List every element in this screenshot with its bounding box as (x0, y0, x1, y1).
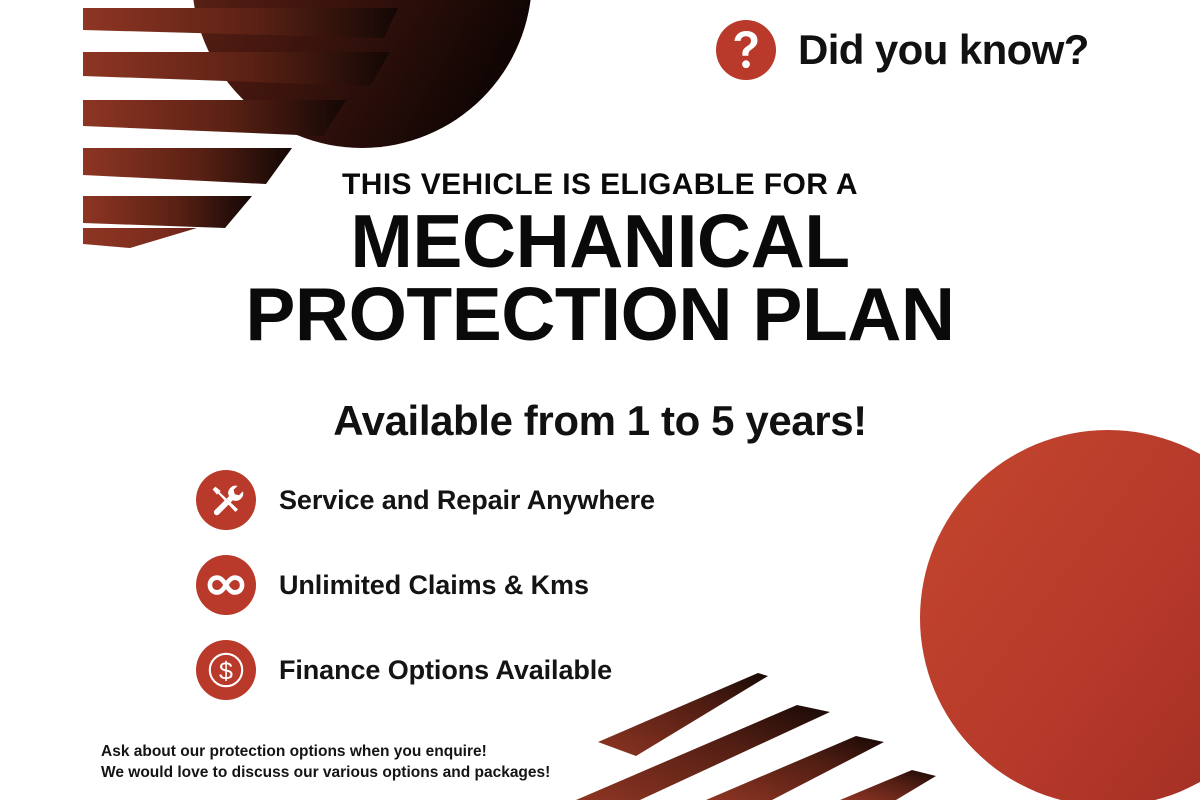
headline-subtitle: Available from 1 to 5 years! (0, 352, 1200, 442)
feature-label: Unlimited Claims & Kms (279, 570, 589, 601)
headline-title-line-2: PROTECTION PLAN (0, 278, 1200, 352)
dollar-coin-icon: $ (196, 640, 256, 700)
feature-label: Service and Repair Anywhere (279, 485, 655, 516)
did-you-know-header: Did you know? (716, 20, 1089, 80)
feature-label: Finance Options Available (279, 655, 612, 686)
headline-block: THIS VEHICLE IS ELIGABLE FOR A MECHANICA… (0, 168, 1200, 442)
tools-wrench-screwdriver-icon (196, 470, 256, 530)
footer-line-1: Ask about our protection options when yo… (101, 742, 550, 763)
svg-text:$: $ (219, 658, 233, 686)
infinity-icon (196, 555, 256, 615)
did-you-know-label: Did you know? (798, 29, 1089, 71)
red-gradient-circle (920, 430, 1200, 800)
feature-item-finance-options: $ Finance Options Available (196, 640, 655, 700)
feature-list: Service and Repair Anywhere Unlimited Cl… (196, 470, 655, 700)
footer-note: Ask about our protection options when yo… (101, 742, 550, 783)
feature-item-unlimited-claims: Unlimited Claims & Kms (196, 555, 655, 615)
headline-title-line-1: MECHANICAL (0, 205, 1200, 279)
footer-line-2: We would love to discuss our various opt… (101, 763, 550, 784)
question-mark-icon (716, 20, 776, 80)
headline-kicker: THIS VEHICLE IS ELIGABLE FOR A (0, 168, 1200, 202)
poster-canvas: Did you know? THIS VEHICLE IS ELIGABLE F… (0, 0, 1200, 800)
dark-gradient-circle (192, 0, 532, 148)
feature-item-service-repair: Service and Repair Anywhere (196, 470, 655, 530)
